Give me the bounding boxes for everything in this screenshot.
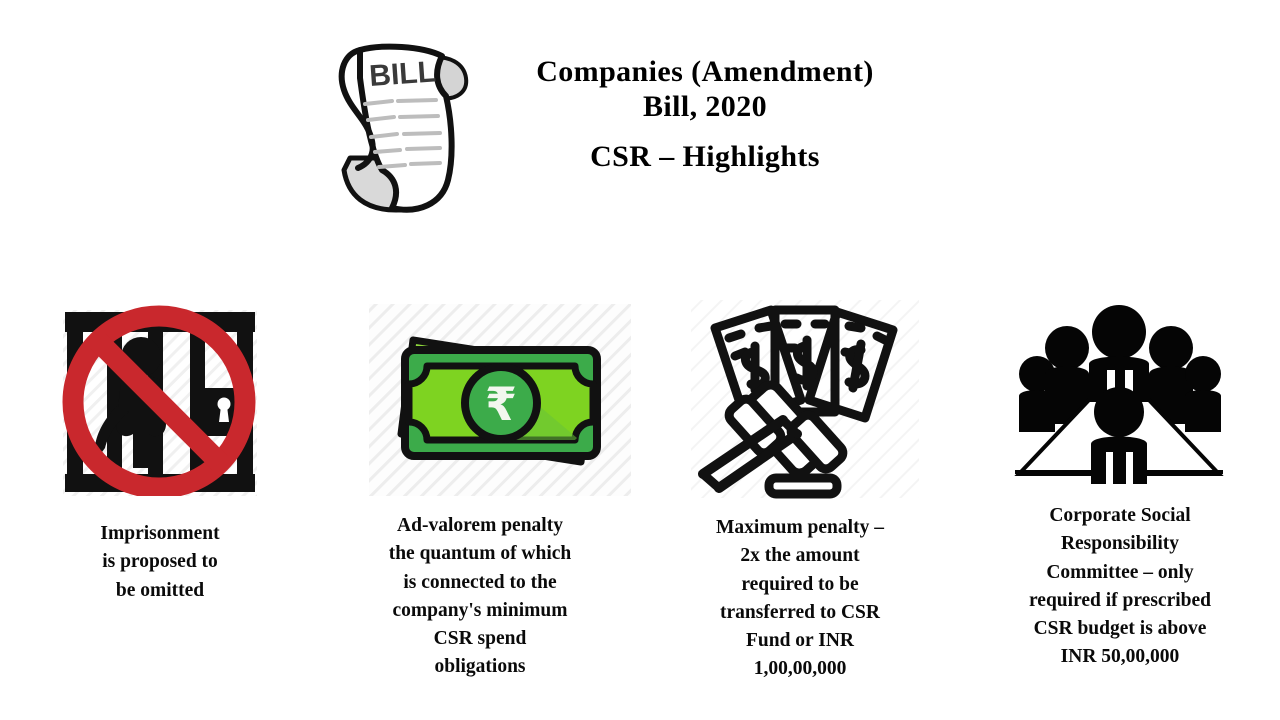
title-line-2: Bill, 2020: [480, 89, 930, 124]
caption-line: Corporate Social: [992, 502, 1248, 530]
highlight-columns: Imprisonment is proposed to be omitted: [0, 296, 1280, 716]
rupee-symbol: ₹: [485, 378, 517, 430]
caption-line: the quantum of which: [355, 540, 605, 568]
caption-line: required if prescribed: [992, 587, 1248, 615]
caption-line: INR 50,00,000: [992, 643, 1248, 671]
title-line-1: Companies (Amendment): [480, 54, 930, 89]
no-imprisonment-icon: [45, 296, 275, 496]
caption-line: CSR spend: [355, 625, 605, 653]
caption-line: CSR budget is above: [992, 615, 1248, 643]
caption-line: Maximum penalty –: [684, 514, 916, 542]
caption-line: is connected to the: [355, 569, 605, 597]
scroll-bill-label: BILL: [368, 55, 437, 93]
caption-line: 1,00,00,000: [684, 655, 916, 683]
caption-line: is proposed to: [45, 548, 275, 576]
caption-line: be omitted: [45, 577, 275, 605]
caption-line: Responsibility: [992, 530, 1248, 558]
caption-ad-valorem: Ad-valorem penalty the quantum of which …: [355, 512, 605, 682]
caption-line: Ad-valorem penalty: [355, 512, 605, 540]
caption-imprisonment: Imprisonment is proposed to be omitted: [45, 520, 275, 605]
caption-csr-committee: Corporate Social Responsibility Committe…: [992, 502, 1248, 672]
slide-header: BILL Companies (Amendment) Bill, 2020 CS…: [330, 38, 930, 228]
banknote-front: ₹: [405, 350, 597, 456]
committee-meeting-icon: [1005, 296, 1235, 496]
title-line-3: CSR – Highlights: [480, 139, 930, 174]
gavel-with-banknotes-icon: [685, 296, 915, 496]
slide-canvas: BILL Companies (Amendment) Bill, 2020 CS…: [0, 0, 1280, 720]
highlight-column-csr-committee: Corporate Social Responsibility Committe…: [960, 296, 1280, 672]
highlight-column-maximum-penalty: Maximum penalty – 2x the amount required…: [640, 296, 960, 684]
caption-line: transferred to CSR: [684, 599, 916, 627]
slide-title: Companies (Amendment) Bill, 2020 CSR – H…: [480, 38, 930, 174]
caption-maximum-penalty: Maximum penalty – 2x the amount required…: [684, 514, 916, 684]
highlight-column-ad-valorem: ₹ Ad-valorem penalty the quantum of whic…: [320, 296, 640, 682]
caption-line: Fund or INR: [684, 627, 916, 655]
sound-block: [769, 478, 837, 494]
caption-line: 2x the amount: [684, 542, 916, 570]
caption-line: obligations: [355, 653, 605, 681]
highlight-column-imprisonment: Imprisonment is proposed to be omitted: [0, 296, 320, 605]
bill-scroll-icon: BILL: [330, 38, 480, 220]
caption-line: company's minimum: [355, 597, 605, 625]
caption-line: Imprisonment: [45, 520, 275, 548]
caption-line: Committee – only: [992, 559, 1248, 587]
rupee-banknotes-icon: ₹: [365, 296, 595, 496]
caption-line: required to be: [684, 571, 916, 599]
